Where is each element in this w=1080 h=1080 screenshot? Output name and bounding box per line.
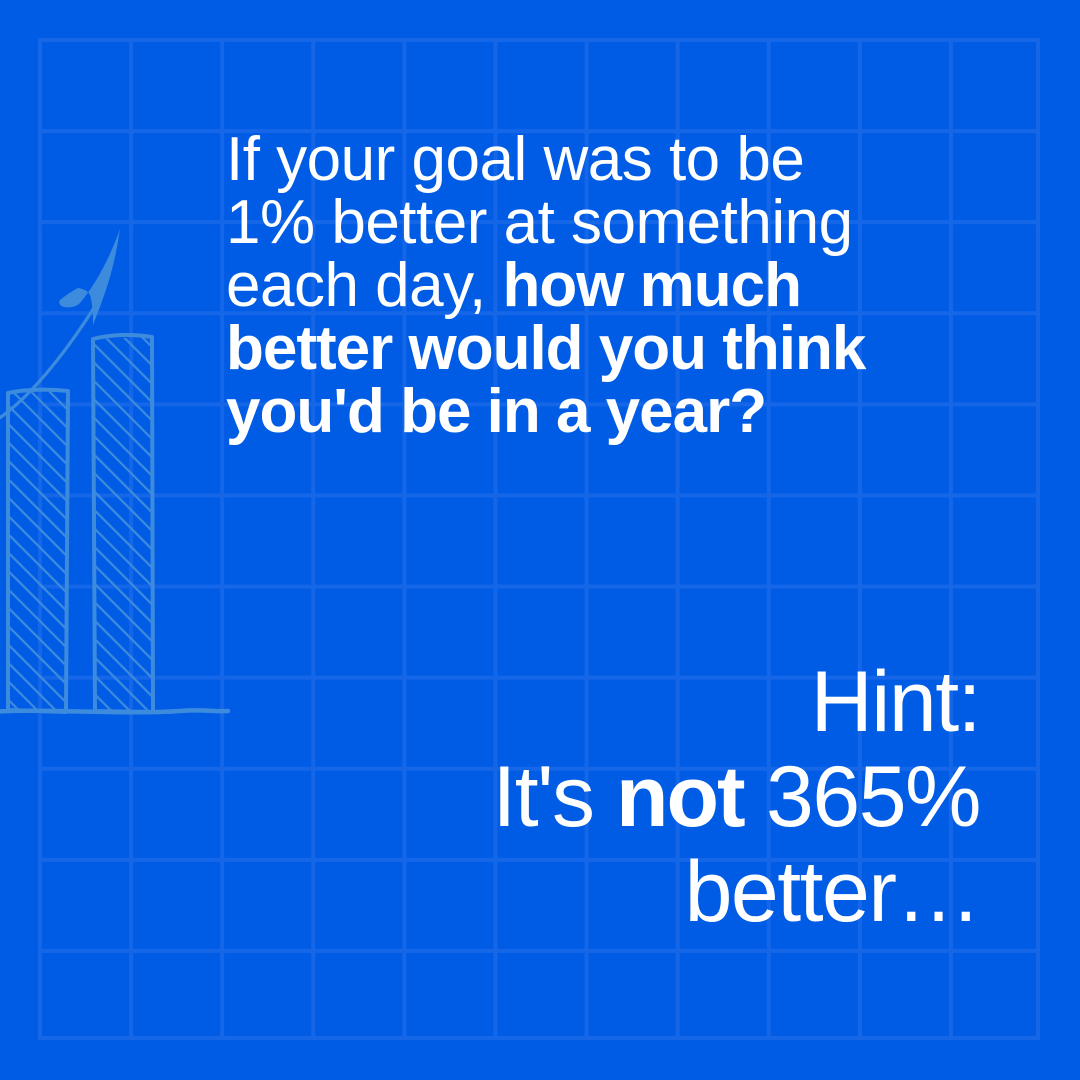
hint-text: Hint: It's not 365% better… [160, 655, 980, 940]
chart-bar-2 [85, 325, 165, 725]
chart-bar-1 [0, 375, 90, 725]
quote-card: If your goal was to be 1% better at some… [0, 0, 1080, 1080]
hint-line-1: Hint: [160, 655, 980, 750]
headline-text: If your goal was to be 1% better at some… [226, 128, 886, 443]
hint-line-2-post: 365% [744, 749, 980, 845]
hint-line-2-pre: It's [492, 749, 616, 845]
hint-line-2-emphasis: not [616, 749, 744, 845]
hint-line-2: It's not 365% [160, 750, 980, 845]
hint-line-3: better… [160, 845, 980, 940]
